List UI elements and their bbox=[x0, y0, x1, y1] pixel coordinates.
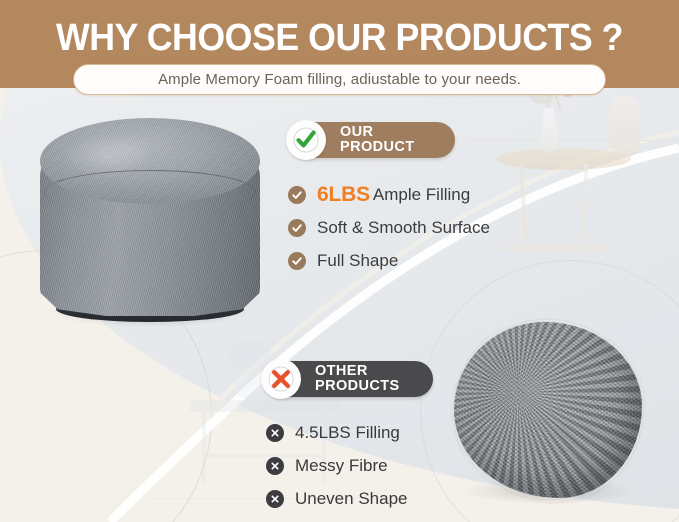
list-item: 6LBS Ample Filling bbox=[288, 180, 490, 209]
background-room-scene-top bbox=[470, 88, 679, 318]
page-title: WHY CHOOSE OUR PRODUCTS ? bbox=[20, 16, 658, 60]
x-circle-icon bbox=[266, 490, 284, 508]
our-product-badge: OUR PRODUCT bbox=[290, 122, 455, 158]
list-item-label: Messy Fibre bbox=[295, 456, 388, 476]
cross-icon bbox=[261, 359, 301, 399]
other-products-badge-label: OTHER PRODUCTS bbox=[315, 364, 400, 394]
check-circle-icon bbox=[288, 252, 306, 270]
our-product-badge-line1: OUR bbox=[340, 124, 373, 140]
subtitle-text: Ample Memory Foam filling, adiustable to… bbox=[158, 71, 521, 88]
list-item: Full Shape bbox=[288, 246, 490, 275]
our-product-image bbox=[34, 118, 266, 333]
check-icon bbox=[286, 120, 326, 160]
our-product-badge-label: OUR PRODUCT bbox=[340, 125, 415, 155]
list-item-label: Uneven Shape bbox=[295, 489, 407, 509]
check-circle-icon bbox=[288, 186, 306, 204]
other-products-badge: OTHER PRODUCTS bbox=[265, 361, 433, 397]
list-item: 4.5LBS Filling bbox=[266, 418, 407, 447]
x-circle-icon bbox=[266, 457, 284, 475]
other-products-feature-list: 4.5LBS Filling Messy Fibre Uneven Shape bbox=[266, 418, 407, 517]
x-circle-icon bbox=[266, 424, 284, 442]
list-item-label: 4.5LBS Filling bbox=[295, 423, 400, 443]
other-products-badge-line2: PRODUCTS bbox=[315, 379, 400, 394]
infographic-canvas: WHY CHOOSE OUR PRODUCTS ? Ample Memory F… bbox=[0, 0, 679, 522]
list-item-label: Ample Filling bbox=[373, 185, 470, 205]
list-item: Uneven Shape bbox=[266, 484, 407, 513]
subtitle-pill: Ample Memory Foam filling, adiustable to… bbox=[73, 64, 606, 95]
list-item-label: Soft & Smooth Surface bbox=[317, 218, 490, 238]
check-circle-icon bbox=[288, 219, 306, 237]
other-products-badge-line1: OTHER bbox=[315, 363, 368, 379]
list-item: Soft & Smooth Surface bbox=[288, 213, 490, 242]
our-product-feature-list: 6LBS Ample Filling Soft & Smooth Surface… bbox=[288, 180, 490, 279]
our-product-badge-line2: PRODUCT bbox=[340, 140, 415, 155]
filling-weight-value: 6LBS bbox=[317, 183, 370, 207]
list-item: Messy Fibre bbox=[266, 451, 407, 480]
list-item-label: Full Shape bbox=[317, 251, 398, 271]
other-product-image bbox=[450, 318, 646, 508]
